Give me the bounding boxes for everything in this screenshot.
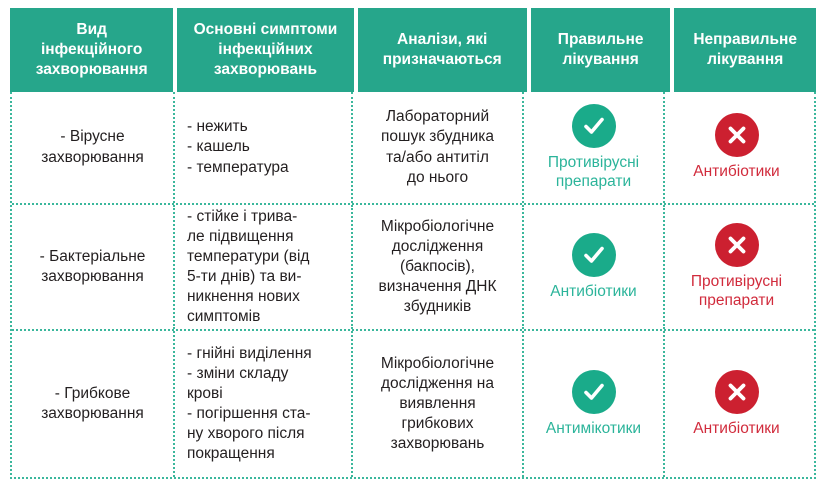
table-row: - Бактеріальне захворювання - стійке і т…	[12, 205, 814, 331]
column-header-incorrect-treatment: Неправильне лікування	[674, 8, 816, 92]
text-line: та/або антитіл	[381, 148, 494, 168]
table-row: - Грибкове захворювання - гнійні виділен…	[12, 331, 814, 477]
header-line: Правильне	[558, 30, 644, 50]
text-line: - температура	[187, 158, 289, 178]
text-line: Противірусні	[691, 273, 782, 292]
text-line: Мікробіологічне	[381, 354, 494, 374]
header-line: лікування	[693, 50, 797, 70]
header-line: Аналізи, які	[383, 30, 502, 50]
header-line: призначаються	[383, 50, 502, 70]
text-line: до нього	[381, 168, 494, 188]
column-header-infection-type: Вид інфекційного захворювання	[10, 8, 173, 92]
header-line: Неправильне	[693, 30, 797, 50]
text-line: дослідження на	[381, 374, 494, 394]
header-line: Основні симптоми	[194, 20, 338, 40]
text-line: - Грибкове	[41, 384, 144, 404]
cell-infection-type: - Бактеріальне захворювання	[12, 205, 175, 329]
cross-circle-icon	[715, 223, 759, 267]
cell-analyses: Лабораторний пошук збудника та/або антит…	[353, 92, 524, 203]
column-header-analyses: Аналізи, які призначаються	[358, 8, 527, 92]
text-line: - кашель	[187, 137, 289, 157]
check-circle-icon	[572, 370, 616, 414]
cell-symptoms: - стійке і трива- ле підвищення температ…	[175, 205, 353, 329]
text-line: симптомів	[187, 307, 309, 327]
cell-analyses: Мікробіологічне дослідження на виявлення…	[353, 331, 524, 477]
text-line: ле підвищення	[187, 227, 309, 247]
text-line: препарати	[548, 173, 639, 192]
text-line: пошук збудника	[381, 127, 494, 147]
infection-comparison-table: Вид інфекційного захворювання Основні си…	[10, 8, 816, 479]
text-line: Противірусні	[548, 154, 639, 173]
column-header-main-symptoms: Основні симптоми інфекційних захворювань	[177, 8, 353, 92]
text-line: 5-ти днів) та ви-	[187, 267, 309, 287]
table-row: - Вірусне захворювання - нежить - кашель…	[12, 92, 814, 205]
text-line: препарати	[691, 292, 782, 311]
treatment-label: Антибіотики	[693, 420, 779, 439]
text-line: визначення ДНК	[378, 277, 496, 297]
text-line: покращення	[187, 444, 312, 464]
cell-symptoms: - нежить - кашель - температура	[175, 92, 353, 203]
text-line: - Бактеріальне	[40, 247, 146, 267]
text-line: захворювань	[381, 434, 494, 454]
text-line: (бакпосів),	[378, 257, 496, 277]
header-line: захворювання	[36, 60, 148, 80]
column-header-correct-treatment: Правильне лікування	[531, 8, 671, 92]
table-header-row: Вид інфекційного захворювання Основні си…	[10, 8, 816, 92]
text-line: Антимікотики	[546, 420, 641, 439]
text-line: ну хворого після	[187, 424, 312, 444]
cross-circle-icon	[715, 370, 759, 414]
text-line: дослідження	[378, 237, 496, 257]
cell-symptoms: - гнійні виділення - зміни складу крові …	[175, 331, 353, 477]
header-line: інфекційного	[36, 40, 148, 60]
text-line: захворювання	[41, 148, 144, 168]
treatment-label: Противірусні препарати	[548, 154, 639, 192]
text-line: - стійке і трива-	[187, 207, 309, 227]
cross-circle-icon	[715, 113, 759, 157]
header-line: інфекційних	[194, 40, 338, 60]
text-line: температури (від	[187, 247, 309, 267]
text-line: Лабораторний	[381, 107, 494, 127]
treatment-label: Противірусні препарати	[691, 273, 782, 311]
cell-correct-treatment: Антимікотики	[524, 331, 665, 477]
text-line: Антибіотики	[550, 283, 636, 302]
header-line: Вид	[36, 20, 148, 40]
cell-incorrect-treatment: Антибіотики	[665, 92, 808, 203]
header-line: лікування	[558, 50, 644, 70]
header-line: захворювань	[194, 60, 338, 80]
text-line: захворювання	[40, 267, 146, 287]
text-line: никнення нових	[187, 287, 309, 307]
text-line: крові	[187, 384, 312, 404]
cell-infection-type: - Грибкове захворювання	[12, 331, 175, 477]
text-line: Антибіотики	[693, 420, 779, 439]
text-line: виявлення	[381, 394, 494, 414]
text-line: - нежить	[187, 117, 289, 137]
text-line: збудників	[378, 297, 496, 317]
text-line: - Вірусне	[41, 127, 144, 147]
cell-incorrect-treatment: Антибіотики	[665, 331, 808, 477]
table-body: - Вірусне захворювання - нежить - кашель…	[10, 92, 816, 479]
cell-incorrect-treatment: Противірусні препарати	[665, 205, 808, 329]
text-line: Антибіотики	[693, 163, 779, 182]
cell-correct-treatment: Антибіотики	[524, 205, 665, 329]
text-line: - погіршення ста-	[187, 404, 312, 424]
treatment-label: Антибіотики	[550, 283, 636, 302]
check-circle-icon	[572, 233, 616, 277]
check-circle-icon	[572, 104, 616, 148]
cell-infection-type: - Вірусне захворювання	[12, 92, 175, 203]
text-line: грибкових	[381, 414, 494, 434]
text-line: - зміни складу	[187, 364, 312, 384]
treatment-label: Антимікотики	[546, 420, 641, 439]
cell-correct-treatment: Противірусні препарати	[524, 92, 665, 203]
text-line: Мікробіологічне	[378, 217, 496, 237]
cell-analyses: Мікробіологічне дослідження (бакпосів), …	[353, 205, 524, 329]
treatment-label: Антибіотики	[693, 163, 779, 182]
text-line: захворювання	[41, 404, 144, 424]
text-line: - гнійні виділення	[187, 344, 312, 364]
